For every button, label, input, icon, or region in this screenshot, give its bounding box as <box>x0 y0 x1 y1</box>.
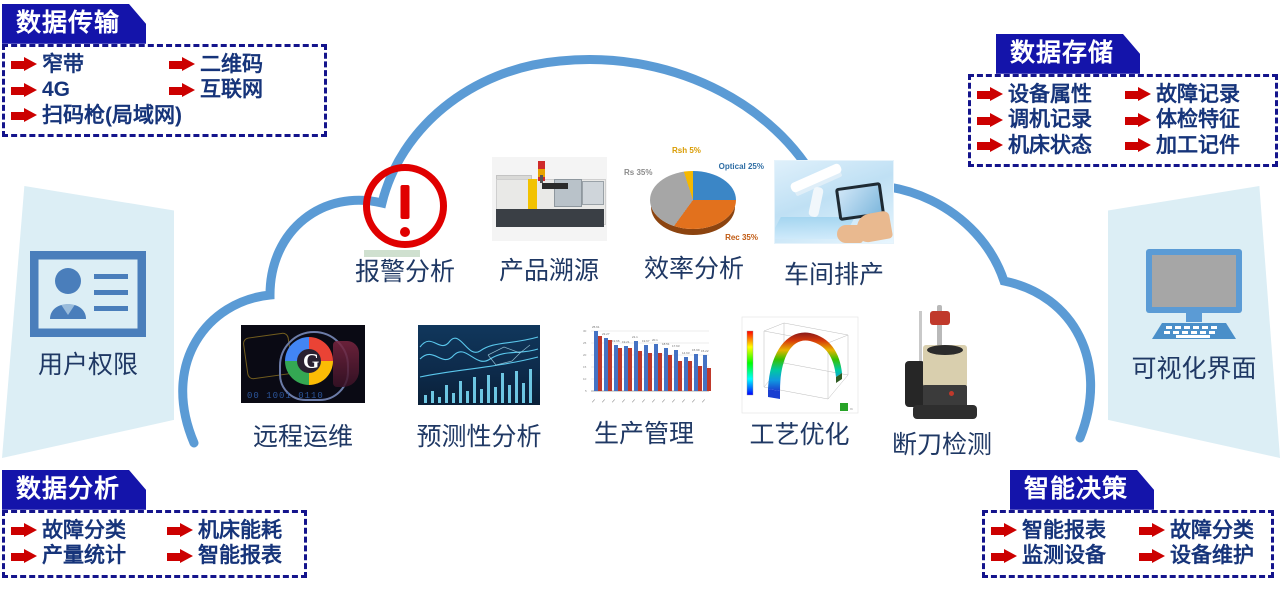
svg-text:25.61: 25.61 <box>592 325 600 329</box>
cloud-item-efficiency-analysis[interactable]: Optical 25% Rec 35% Rs 35% Rsh 5% 效率分析 <box>614 145 774 282</box>
arrow-icon <box>11 57 37 72</box>
cloud-item-workshop-scheduling[interactable]: 车间排产 <box>754 160 914 288</box>
svg-text:━━: ━━ <box>670 398 676 404</box>
list-item[interactable]: 智能报表 <box>991 519 1131 543</box>
user-id-card-icon <box>30 251 146 337</box>
svg-text:23.27: 23.27 <box>602 332 610 336</box>
list-item[interactable]: 加工记件 <box>1125 134 1240 158</box>
arrow-icon <box>1125 87 1151 102</box>
list-item[interactable]: 设备维护 <box>1139 544 1254 568</box>
svg-text:━━: ━━ <box>610 398 616 404</box>
arrow-icon <box>991 523 1017 538</box>
list-item-label: 4G <box>42 78 70 102</box>
list-item-label: 故障分类 <box>1170 519 1254 543</box>
pie-chart-thumbnail: Optical 25% Rec 35% Rs 35% Rsh 5% <box>624 145 764 241</box>
svg-text:━━: ━━ <box>630 398 636 404</box>
arrow-icon <box>167 549 193 564</box>
list-item[interactable]: 窄带 <box>11 53 161 77</box>
data-wave-photo <box>418 325 540 405</box>
list-item[interactable]: 故障分类 <box>1139 519 1254 543</box>
cloud-item-remote-maintenance[interactable]: G 00 1001 0110 远程运维 <box>238 325 368 450</box>
arrow-icon <box>1139 549 1165 564</box>
svg-text:━━: ━━ <box>680 398 686 404</box>
diagram-canvas: 数据传输 窄带 4G 扫码枪(局域网) 二维码 <box>0 0 1282 593</box>
bar-chart-thumbnail: 25.6123.27 19.6619.21 21.119.67 20.118.5… <box>575 319 713 413</box>
panel-title-smart-decision: 智能决策 <box>1010 470 1154 510</box>
arrow-icon <box>1139 523 1165 538</box>
list-item[interactable]: 扫码枪(局域网) <box>11 104 161 128</box>
svg-text:30: 30 <box>583 329 587 333</box>
cloud-item-tool-breakage-detection[interactable]: 断刀检测 <box>874 305 1010 458</box>
svg-text:20.1: 20.1 <box>652 338 658 342</box>
panel-body-smart-decision: 智能报表 监测设备 故障分类 设备维护 <box>982 510 1274 578</box>
list-item-label: 故障记录 <box>1156 83 1240 107</box>
wing-user-permission: 用户权限 <box>2 186 174 458</box>
svg-text:━━: ━━ <box>650 398 656 404</box>
cloud-item-predictive-analysis[interactable]: 预测性分析 <box>399 325 559 450</box>
svg-text:18.51: 18.51 <box>662 342 670 346</box>
list-item[interactable]: 产量统计 <box>11 544 159 568</box>
cnc-machine-photo <box>492 157 607 241</box>
list-item[interactable]: 4G <box>11 78 161 102</box>
panel-smart-decision: 智能决策 智能报表 监测设备 故障分类 设备维护 <box>982 470 1274 578</box>
list-item-label: 扫码枪(局域网) <box>42 104 182 128</box>
warning-exclamation-icon <box>363 160 447 260</box>
arrow-icon <box>167 523 193 538</box>
cloud-item-label: 车间排产 <box>784 263 884 288</box>
cloud-item-label: 断刀检测 <box>892 433 992 458</box>
list-item-label: 监测设备 <box>1022 544 1106 568</box>
arrow-icon <box>11 549 37 564</box>
cloud-item-production-management[interactable]: 25.6123.27 19.6619.21 21.119.67 20.118.5… <box>564 319 724 447</box>
surface-plot-thumbnail: Xi <box>740 311 860 419</box>
list-item-label: 智能报表 <box>1022 519 1106 543</box>
list-item-label: 故障分类 <box>42 519 126 543</box>
arrow-icon <box>11 523 37 538</box>
list-item-label: 体检特征 <box>1156 108 1240 132</box>
arrow-icon <box>11 83 37 98</box>
svg-text:15.99: 15.99 <box>692 348 700 352</box>
cloud-item-process-optimization[interactable]: Xi 工艺优化 <box>727 311 872 448</box>
arrow-icon <box>991 549 1017 564</box>
svg-text:21.1: 21.1 <box>632 335 638 339</box>
list-item-label: 机床能耗 <box>198 519 282 543</box>
svg-text:19.67: 19.67 <box>642 339 650 343</box>
pie-label-rsh: Rsh 5% <box>672 147 701 156</box>
desktop-monitor-icon <box>1134 247 1254 341</box>
cloud-item-label: 预测性分析 <box>416 425 541 450</box>
svg-text:Xi: Xi <box>850 407 853 411</box>
svg-text:━━: ━━ <box>640 398 646 404</box>
list-item-label: 智能报表 <box>198 544 282 568</box>
cloud-item-label: 产品溯源 <box>499 259 599 284</box>
pie-label-rs: Rs 35% <box>624 169 652 178</box>
svg-text:17.63: 17.63 <box>672 344 680 348</box>
svg-text:15.22: 15.22 <box>701 349 709 353</box>
list-item[interactable]: 机床能耗 <box>167 519 282 543</box>
arrow-icon <box>1125 138 1151 153</box>
svg-text:━━: ━━ <box>700 398 706 404</box>
cloud-item-label: 效率分析 <box>644 257 744 282</box>
svg-text:25: 25 <box>583 341 587 345</box>
svg-text:━━: ━━ <box>690 398 696 404</box>
list-item[interactable]: 故障分类 <box>11 519 159 543</box>
wing-visualization: 可视化界面 <box>1108 186 1280 458</box>
svg-text:14.63: 14.63 <box>682 351 690 355</box>
wing-label-user-permission: 用户权限 <box>38 345 138 381</box>
arrow-icon <box>1125 113 1151 128</box>
tablet-robot-photo <box>774 160 894 244</box>
svg-text:20: 20 <box>583 353 587 357</box>
ai-brain-photo: G 00 1001 0110 <box>241 325 365 403</box>
list-item[interactable]: 体检特征 <box>1125 108 1240 132</box>
cloud-item-label: 远程运维 <box>253 425 353 450</box>
list-item[interactable]: 智能报表 <box>167 544 282 568</box>
cloud-item-label: 生产管理 <box>594 422 694 447</box>
svg-text:19.21: 19.21 <box>622 340 630 344</box>
cloud-item-label: 工艺优化 <box>749 423 849 448</box>
svg-text:10: 10 <box>583 377 587 381</box>
svg-text:━━: ━━ <box>620 398 626 404</box>
list-item-label: 加工记件 <box>1156 134 1240 158</box>
svg-text:5: 5 <box>585 389 587 393</box>
svg-text:━━: ━━ <box>600 398 606 404</box>
svg-text:15: 15 <box>583 365 587 369</box>
cloud-item-label: 报警分析 <box>355 260 455 285</box>
list-item-label: 设备维护 <box>1170 544 1254 568</box>
svg-text:━━: ━━ <box>660 398 666 404</box>
svg-text:19.66: 19.66 <box>612 339 620 343</box>
tool-probe-photo <box>899 305 985 423</box>
cloud-item-alarm-analysis[interactable]: 报警分析 <box>340 160 470 285</box>
list-item-label: 窄带 <box>42 53 84 77</box>
svg-text:━━: ━━ <box>590 398 596 404</box>
panel-title-data-transmission: 数据传输 <box>2 4 146 44</box>
panel-data-analysis: 数据分析 故障分类 产量统计 机床能耗 智能报表 <box>2 470 307 578</box>
panel-title-data-analysis: 数据分析 <box>2 470 146 510</box>
panel-body-data-analysis: 故障分类 产量统计 机床能耗 智能报表 <box>2 510 307 578</box>
list-item[interactable]: 故障记录 <box>1125 83 1240 107</box>
cloud-item-product-traceability[interactable]: 产品溯源 <box>474 157 624 284</box>
arrow-icon <box>11 108 37 123</box>
list-item[interactable]: 监测设备 <box>991 544 1131 568</box>
list-item-label: 产量统计 <box>42 544 126 568</box>
cloud-capability-grid: 报警分析 产品溯源 Optical 25% Rec 35% <box>174 33 1109 471</box>
wing-label-visualization: 可视化界面 <box>1131 349 1256 385</box>
